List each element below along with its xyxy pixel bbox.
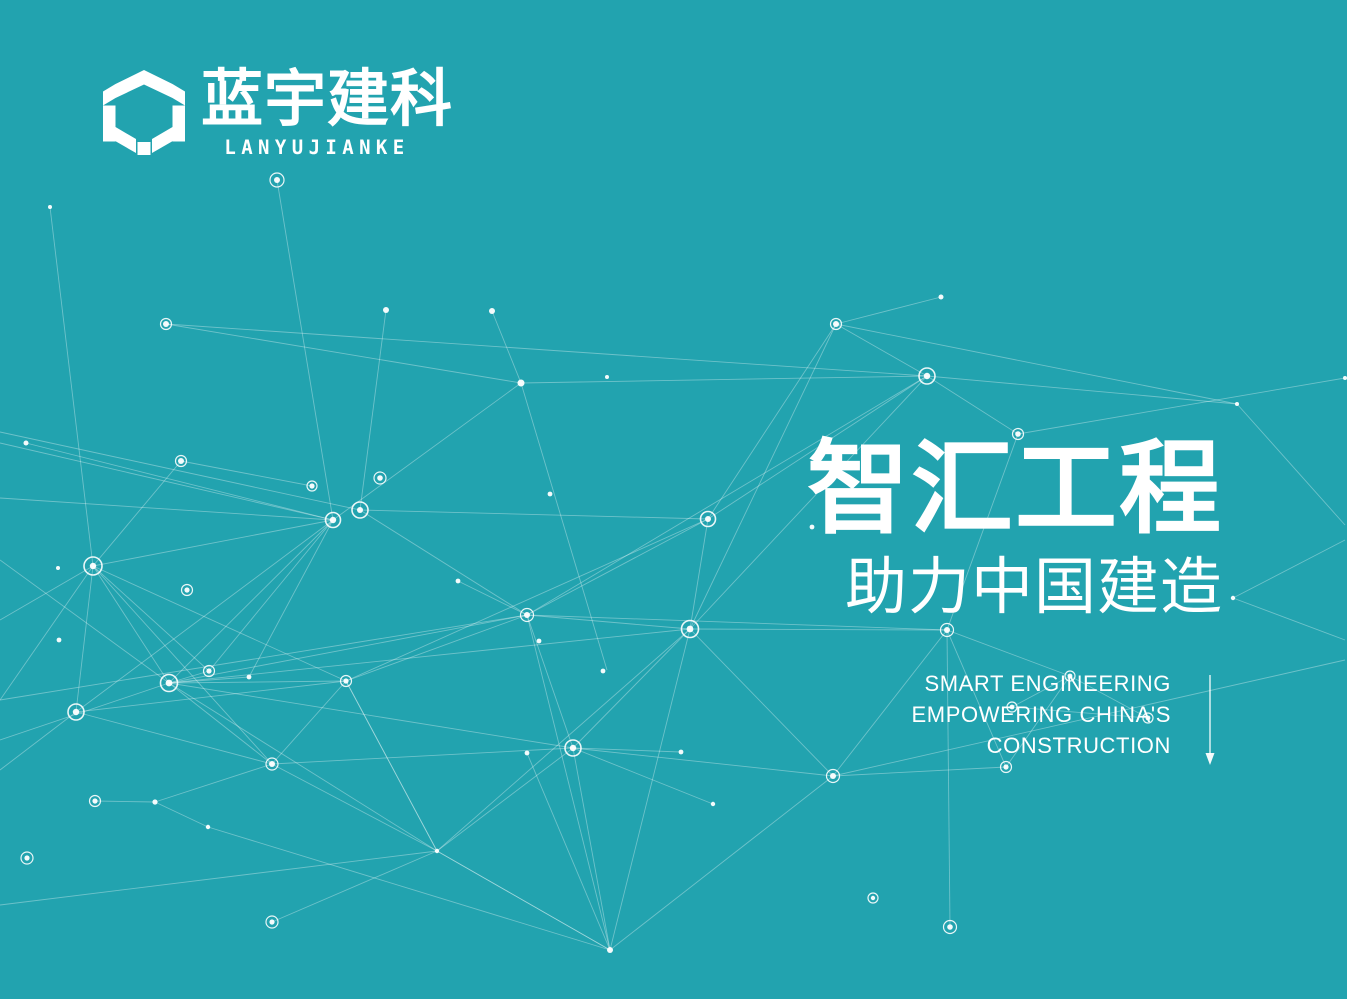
network-node-dot bbox=[24, 855, 29, 860]
network-node-dot bbox=[518, 380, 525, 387]
network-node-dot bbox=[687, 626, 694, 633]
network-node-dot bbox=[705, 516, 711, 522]
network-node-dot bbox=[947, 924, 953, 930]
network-node-dot bbox=[570, 745, 576, 751]
network-node-dot bbox=[525, 751, 530, 756]
network-node-dot bbox=[269, 761, 275, 767]
network-node-dot bbox=[166, 680, 173, 687]
network-node-dot bbox=[163, 321, 169, 327]
network-node-dot bbox=[924, 373, 930, 379]
network-node-dot bbox=[830, 773, 836, 779]
tagline-line-2: EMPOWERING CHINA'S bbox=[912, 699, 1171, 730]
network-node-dot bbox=[607, 947, 613, 953]
network-node-dot bbox=[357, 507, 363, 513]
network-node-dot bbox=[944, 627, 950, 633]
network-node-dot bbox=[548, 492, 553, 497]
network-node-dot bbox=[56, 566, 60, 570]
network-node-dot bbox=[435, 849, 439, 853]
network-node-dot bbox=[90, 563, 96, 569]
tagline-block: SMART ENGINEERING EMPOWERING CHINA'S CON… bbox=[912, 668, 1219, 765]
network-node-dot bbox=[605, 375, 609, 379]
network-node-dot bbox=[456, 579, 461, 584]
network-node-dot bbox=[383, 307, 389, 313]
network-node-dot bbox=[343, 678, 348, 683]
network-node-dot bbox=[1343, 376, 1347, 380]
hexagon-outline-icon bbox=[103, 70, 185, 156]
network-node-dot bbox=[184, 587, 189, 592]
network-node-dot bbox=[1235, 402, 1239, 406]
network-node-dot bbox=[73, 709, 79, 715]
network-node-dot bbox=[309, 483, 314, 488]
headline-secondary: 助力中国建造 bbox=[807, 554, 1223, 619]
network-node-dot bbox=[330, 517, 336, 523]
network-node-dot bbox=[679, 750, 684, 755]
network-node-dot bbox=[274, 177, 280, 183]
network-node-dot bbox=[57, 638, 62, 643]
tagline-line-1: SMART ENGINEERING bbox=[912, 668, 1171, 699]
network-node-dot bbox=[206, 825, 210, 829]
network-node-dot bbox=[269, 919, 274, 924]
network-node-dot bbox=[939, 295, 944, 300]
network-node-dot bbox=[92, 798, 97, 803]
headline-block: 智汇工程 助力中国建造 bbox=[807, 438, 1223, 619]
arrow-down-icon bbox=[1201, 675, 1219, 765]
network-node-dot bbox=[152, 799, 157, 804]
headline-primary: 智汇工程 bbox=[807, 438, 1223, 542]
network-node-dot bbox=[601, 669, 606, 674]
brand-name-cn: 蓝宇建科 bbox=[201, 68, 453, 130]
network-node-dot bbox=[524, 612, 530, 618]
network-node-dot bbox=[1231, 596, 1235, 600]
network-node-dot bbox=[833, 321, 839, 327]
brand-wordmark: 蓝宇建科 LANYUJIANKE bbox=[201, 68, 453, 157]
network-node-dot bbox=[24, 441, 29, 446]
brand-logo: 蓝宇建科 LANYUJIANKE bbox=[103, 68, 453, 157]
network-node-dot bbox=[537, 639, 542, 644]
brand-name-en: LANYUJIANKE bbox=[201, 138, 433, 158]
network-node-dot bbox=[871, 896, 875, 900]
tagline-line-3: CONSTRUCTION bbox=[912, 730, 1171, 761]
network-node-dot bbox=[711, 802, 715, 806]
network-node-dot bbox=[377, 475, 383, 481]
network-node-dot bbox=[1003, 764, 1008, 769]
network-node-dot bbox=[178, 458, 184, 464]
network-node-dot bbox=[206, 668, 211, 673]
network-node-dot bbox=[247, 675, 252, 680]
tagline-text: SMART ENGINEERING EMPOWERING CHINA'S CON… bbox=[912, 668, 1171, 761]
network-node-dot bbox=[489, 308, 495, 314]
poster-canvas: 蓝宇建科 LANYUJIANKE 智汇工程 助力中国建造 SMART ENGIN… bbox=[0, 0, 1347, 999]
network-node-dot bbox=[48, 205, 52, 209]
